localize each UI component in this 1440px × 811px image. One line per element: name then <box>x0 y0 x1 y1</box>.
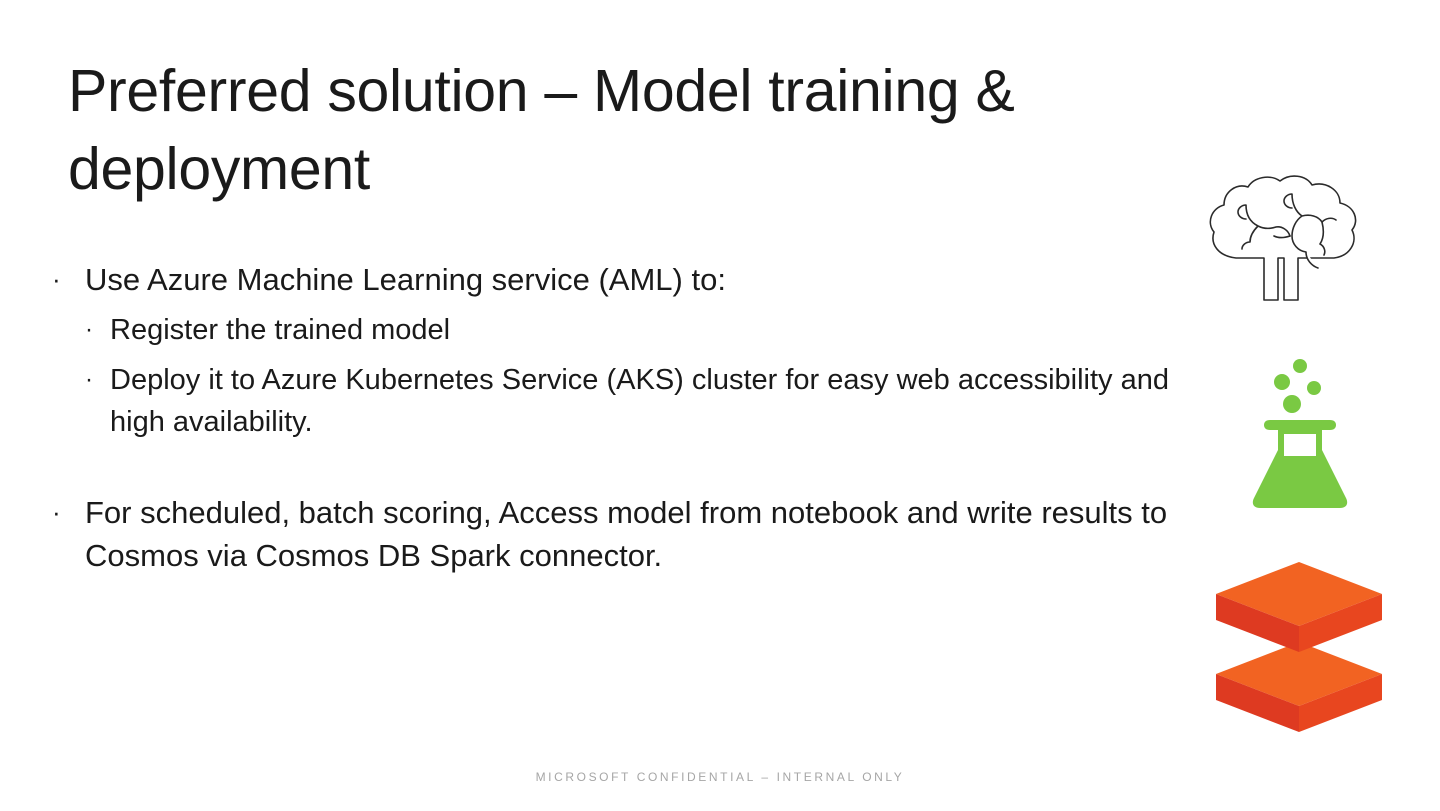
spacer <box>52 443 1217 491</box>
bullet-item-4: · For scheduled, batch scoring, Access m… <box>52 491 1217 577</box>
slide-canvas: Preferred solution – Model training & de… <box>0 0 1440 811</box>
brain-icon <box>1206 172 1366 312</box>
body-content: · Use Azure Machine Learning service (AM… <box>52 258 1217 577</box>
bullet-text: Use Azure Machine Learning service (AML)… <box>85 258 1217 301</box>
page-title: Preferred solution – Model training & de… <box>68 52 1128 208</box>
spacer <box>52 351 1217 359</box>
bullet-item-1: · Use Azure Machine Learning service (AM… <box>52 258 1217 301</box>
bullet-marker-icon: · <box>52 258 85 301</box>
layers-icon <box>1206 556 1392 736</box>
bullet-text: Deploy it to Azure Kubernetes Service (A… <box>110 359 1217 443</box>
bullet-text: Register the trained model <box>110 309 1217 351</box>
bullet-item-3: · Deploy it to Azure Kubernetes Service … <box>52 359 1217 443</box>
flask-icon <box>1248 358 1352 510</box>
bullet-marker-icon: · <box>85 309 110 351</box>
bullet-marker-icon: · <box>85 359 110 401</box>
footer-confidentiality-notice: MICROSOFT CONFIDENTIAL – INTERNAL ONLY <box>0 770 1440 784</box>
bullet-text: For scheduled, batch scoring, Access mod… <box>85 491 1217 577</box>
spacer <box>52 301 1217 309</box>
bullet-marker-icon: · <box>52 491 85 534</box>
bullet-item-2: · Register the trained model <box>52 309 1217 351</box>
